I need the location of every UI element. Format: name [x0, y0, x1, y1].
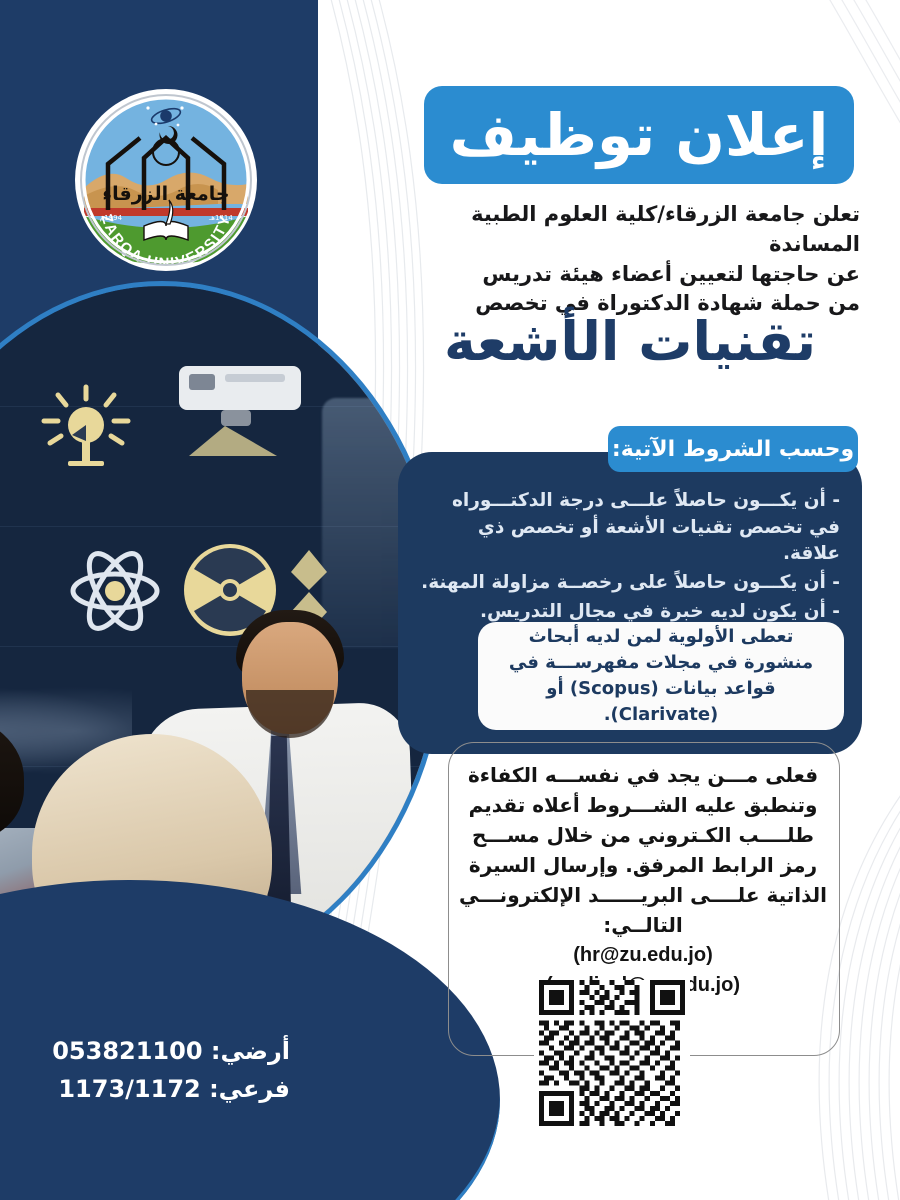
condition-item: - أن يكـــون حاصلاً على رخصــة مزاولة ال…	[420, 570, 840, 597]
qr-code[interactable]	[534, 980, 690, 1126]
conditions-list: - أن يكـــون حاصلاً علـــى درجة الدكتـــ…	[420, 488, 840, 627]
presenter-photo	[0, 286, 442, 976]
contact-block: أرضي: 053821100 فرعي: 1173/1172	[40, 1032, 290, 1109]
conditions-heading: وحسب الشروط الآتية:	[612, 437, 854, 462]
major-title-text: تقنيات الأشعة	[444, 310, 816, 373]
logo-year-left: 1994م	[100, 214, 123, 222]
intro-paragraph: تعلن جامعة الزرقاء/كلية العلوم الطبية ال…	[390, 200, 860, 319]
contact-extension: فرعي: 1173/1172	[40, 1070, 290, 1108]
logo-name-ar: جامعة الزرقاء	[102, 183, 229, 205]
xray-machine-icon	[165, 360, 315, 468]
conditions-heading-pill: وحسب الشروط الآتية:	[608, 426, 858, 472]
condition-item: - أن يكـــون حاصلاً علـــى درجة الدكتـــ…	[420, 488, 840, 568]
zarqa-university-seal-icon: جامعة الزرقاء ZARQA UNIVERSITY 1994م 141…	[78, 92, 254, 268]
poster-title-pill: إعلان توظيف	[424, 86, 854, 184]
major-title: تقنيات الأشعة	[400, 310, 860, 373]
sun-radiation-icon	[34, 381, 138, 467]
contact-landline: أرضي: 053821100	[40, 1032, 290, 1070]
apply-instructions: فعلى مـــن يجد في نفســـه الكفاءة وتنطبق…	[452, 760, 834, 1000]
logo-year-right: 1414هـ	[208, 214, 233, 222]
apply-email-hr[interactable]: (hr@zu.edu.jo)	[452, 940, 834, 970]
poster-root: جامعة الزرقاء ZARQA UNIVERSITY 1994م 141…	[0, 0, 900, 1200]
priority-note-box: تعطى الأولوية لمن لديه أبحاث منشورة في م…	[478, 622, 844, 730]
priority-note-text: تعطى الأولوية لمن لديه أبحاث منشورة في م…	[478, 624, 844, 728]
intro-line-1: تعلن جامعة الزرقاء/كلية العلوم الطبية ال…	[390, 200, 860, 260]
skeleton-xray-icon	[0, 378, 10, 678]
apply-paragraph: فعلى مـــن يجد في نفســـه الكفاءة وتنطبق…	[452, 760, 834, 940]
university-logo: جامعة الزرقاء ZARQA UNIVERSITY 1994م 141…	[78, 92, 254, 268]
qr-code-icon[interactable]	[534, 980, 690, 1126]
page-title: إعلان توظيف	[450, 106, 829, 164]
intro-line-2: عن حاجتها لتعيين أعضاء هيئة تدريس	[390, 260, 860, 290]
